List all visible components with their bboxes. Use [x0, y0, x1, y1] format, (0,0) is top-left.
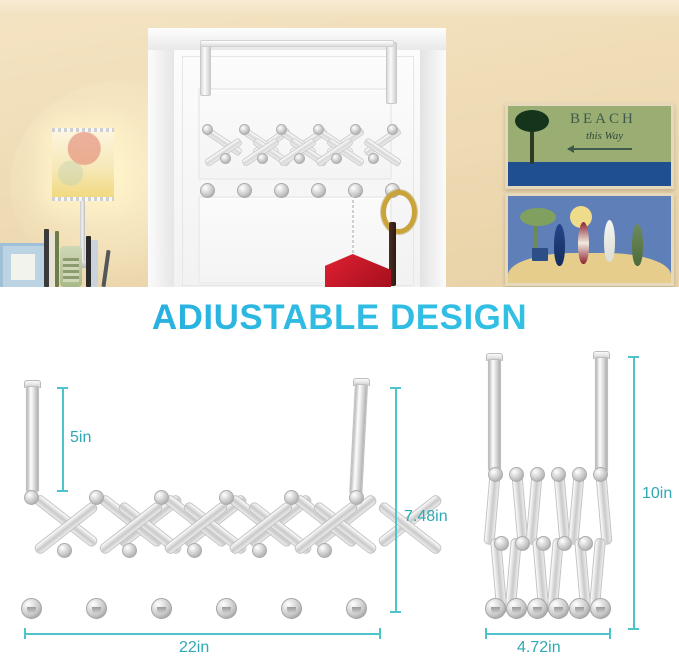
top-pivot [530, 467, 545, 482]
lamp-shade-top-trim [52, 128, 114, 132]
photo-bracket-left [200, 42, 211, 96]
rack-pivot [350, 124, 361, 135]
dim-line-overall-width [24, 633, 381, 635]
dim-label-overall-height: 7.48in [404, 508, 448, 526]
cross-joint [515, 536, 530, 551]
silver-chain [352, 195, 354, 257]
bracket-right [349, 384, 368, 495]
top-pivot [219, 490, 234, 505]
dim-cap [628, 628, 639, 630]
rack-pivot [387, 124, 398, 135]
dim-cap [485, 628, 487, 639]
palm-leaves-icon [520, 208, 556, 226]
beach-chair [532, 248, 548, 261]
rack-hook [200, 183, 215, 198]
door-frame-right [420, 28, 446, 287]
hook-knob [281, 598, 302, 619]
hook-knob [527, 598, 548, 619]
rack-cross-joint [220, 153, 231, 164]
surfboard [604, 220, 615, 262]
hook-knob [151, 598, 172, 619]
rack-cross-joint [368, 153, 379, 164]
dim-line-overall-height [395, 387, 397, 613]
product-image: BEACH this Way ADIUSTABLE DESIGN [0, 0, 679, 667]
cross-joint [578, 536, 593, 551]
top-pivot [284, 490, 299, 505]
door-frame-left [148, 28, 174, 287]
surfboard [554, 224, 565, 266]
dim-line-bracket-height [62, 387, 64, 492]
beach-sign-art: BEACH this Way [505, 103, 674, 189]
cross-joint [317, 543, 332, 558]
dim-label-collapsed-width: 4.72in [517, 639, 561, 657]
hook-knob [548, 598, 569, 619]
surfboards-art [505, 193, 674, 286]
book [55, 231, 59, 287]
hook-knob [86, 598, 107, 619]
lamp-shade [52, 128, 114, 201]
rack-cross-joint [257, 153, 268, 164]
bracket-left [26, 386, 39, 492]
top-pivot [551, 467, 566, 482]
cordless-phone [60, 246, 82, 287]
hook-knob [569, 598, 590, 619]
rack-hook [237, 183, 252, 198]
lifestyle-photo: BEACH this Way [0, 0, 679, 287]
picture-frame [0, 243, 50, 287]
dimension-diagrams: 5in 7.48in 22in [0, 346, 679, 667]
page-title: ADIUSTABLE DESIGN [0, 298, 679, 338]
palm-leaves-icon [515, 110, 549, 132]
photo-door-rail [200, 40, 394, 47]
ceiling [0, 0, 679, 16]
rack-pivot [313, 124, 324, 135]
rack-pivot [202, 124, 213, 135]
hook-knob [346, 598, 367, 619]
gold-ring-handle [381, 190, 417, 234]
cross-joint [536, 536, 551, 551]
picture-frame-photo [11, 254, 35, 280]
top-pivot [89, 490, 104, 505]
hook-knob [21, 598, 42, 619]
phone-keypad [63, 258, 79, 282]
dim-label-overall-width: 22in [179, 639, 209, 657]
top-pivot [24, 490, 39, 505]
rack-cross-joint [294, 153, 305, 164]
rack-cross-joint [331, 153, 342, 164]
art-heading: BEACH [570, 111, 636, 128]
dim-label-collapsed-height: 10in [642, 485, 672, 503]
cross-joint [494, 536, 509, 551]
rack-hook [311, 183, 326, 198]
bracket-left [488, 359, 501, 471]
photo-bracket-right [386, 42, 397, 104]
top-pivot [572, 467, 587, 482]
dim-cap [390, 611, 401, 613]
book [91, 240, 98, 287]
dim-cap [57, 387, 68, 389]
dim-cap [609, 628, 611, 639]
cross-joint [252, 543, 267, 558]
lamp-shade-pattern [52, 128, 114, 201]
top-pivot [509, 467, 524, 482]
dim-cap [379, 628, 381, 639]
dim-cap [24, 628, 26, 639]
arrow-icon [568, 148, 632, 150]
hook-knob [590, 598, 611, 619]
dim-cap [628, 356, 639, 358]
top-pivot [154, 490, 169, 505]
rack-hook [274, 183, 289, 198]
hook-knob [485, 598, 506, 619]
dim-label-bracket-height: 5in [70, 429, 91, 447]
top-pivot [349, 490, 364, 505]
top-pivot [593, 467, 608, 482]
rack-pivot [239, 124, 250, 135]
hook-knob [506, 598, 527, 619]
top-pivot [488, 467, 503, 482]
rack-pivot [276, 124, 287, 135]
cross-joint [187, 543, 202, 558]
rack-hook [348, 183, 363, 198]
cross-joint [557, 536, 572, 551]
cross-joint [57, 543, 72, 558]
dim-cap [57, 490, 68, 492]
bracket-right [595, 357, 608, 472]
cross-joint [122, 543, 137, 558]
surfboard [578, 222, 589, 264]
art-sea-band [508, 162, 671, 186]
hook-knob [216, 598, 237, 619]
surfboard [632, 224, 643, 266]
art-subheading: this Way [586, 130, 623, 142]
dim-line-collapsed-height [633, 356, 635, 630]
dim-line-collapsed-width [485, 633, 611, 635]
dim-cap [390, 387, 401, 389]
